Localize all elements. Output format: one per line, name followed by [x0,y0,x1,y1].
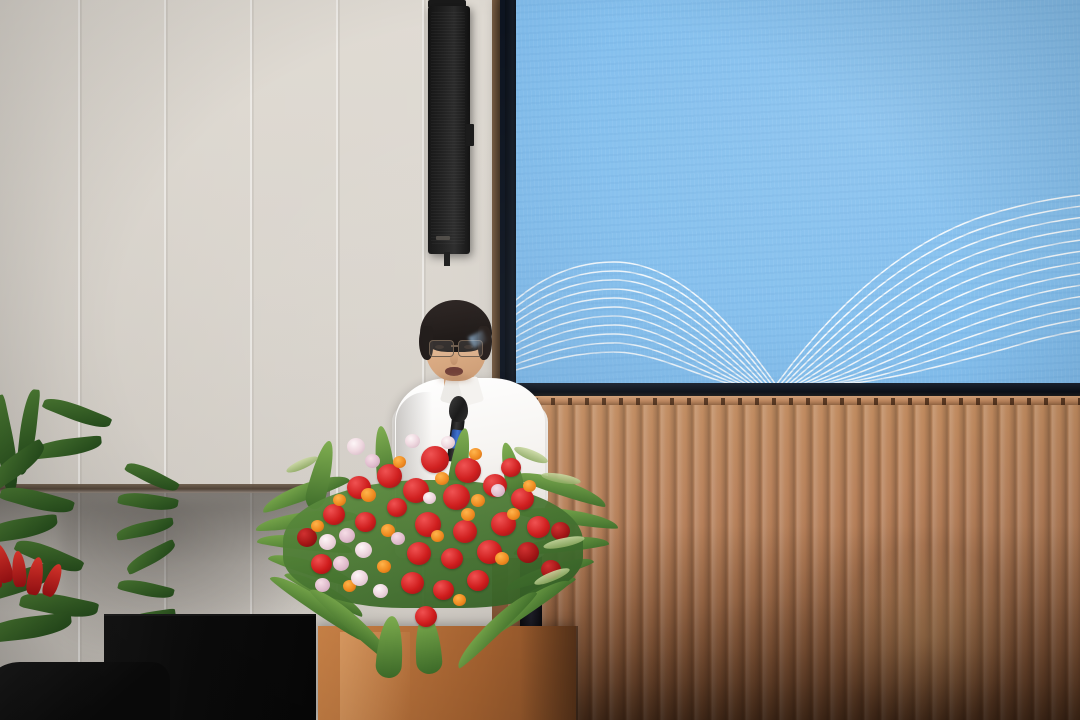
red-rose [501,458,521,477]
red-rose [421,446,449,473]
orange-flower [469,448,482,460]
pink-flower [333,556,349,571]
orange-flower [311,520,324,532]
person-nose [450,352,458,365]
orange-flower [471,494,485,507]
orange-flower [435,472,449,485]
palm-frond [115,517,175,541]
loudspeaker-badge [436,236,450,240]
foliage-leaf [375,615,405,679]
orange-flower [393,456,406,468]
red-rose [453,520,477,543]
loudspeaker-stem [444,252,450,266]
orange-flower [377,560,391,573]
red-rose [441,548,463,569]
white-flower [423,492,436,504]
white-flower [441,436,455,449]
orange-flower [333,494,346,506]
red-rose [467,570,489,591]
white-flower [319,534,336,550]
red-rose [311,554,332,574]
foreground-dark-object [0,662,170,720]
led-screen[interactable] [514,0,1080,385]
white-flower [373,584,388,598]
pink-flower [365,454,380,468]
pink-flower [491,484,505,497]
pink-flower [339,528,355,543]
red-rose [433,580,454,600]
red-rose [527,516,550,538]
orange-flower [461,508,475,521]
white-flower [355,542,372,558]
red-rose [455,458,481,483]
orange-flower [495,552,509,565]
red-rose [443,484,470,510]
orange-flower [431,530,444,542]
orange-flower [453,594,466,606]
photograph-scene [0,0,1080,720]
palm-frond [42,392,113,433]
palm-frond [0,612,73,643]
pink-flower [315,578,330,592]
loudspeaker-grille [431,12,465,244]
microphone-head [449,396,468,422]
red-rose [401,572,424,594]
palm-frond [117,575,175,602]
screen-vignette [514,0,1080,385]
white-flower [405,434,420,448]
loudspeaker-mount-nub [466,124,474,146]
red-rose [355,512,376,532]
palm-frond [117,489,179,514]
red-rose [517,542,539,563]
pink-flower [391,532,405,545]
orange-flower [523,480,536,492]
palm-frond [0,481,75,519]
screen-left-bezel [505,0,516,390]
red-rose [387,498,407,517]
white-flower [347,438,365,455]
red-rose [407,542,431,565]
bromeliad-bloom [11,551,27,588]
wood-wall-top-notches [508,398,1080,405]
person-chin-shadow [438,374,472,383]
white-flower [351,570,368,586]
orange-flower [361,488,376,502]
orange-flower [507,508,520,520]
palm-frond [124,539,179,575]
red-rose [415,606,437,627]
palm-frond [0,514,59,545]
eyeglasses-bridge [451,345,459,347]
red-rose [323,504,345,525]
